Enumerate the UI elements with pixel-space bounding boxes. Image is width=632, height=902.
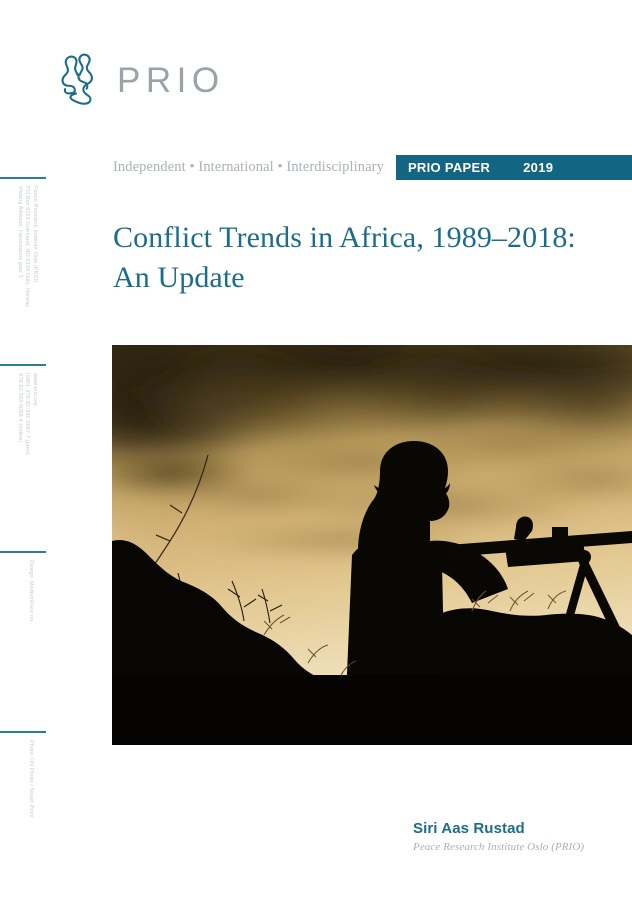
tagline: Independent • International • Interdisci…	[113, 155, 396, 180]
spine-divider-2	[0, 364, 46, 366]
badge-label: PRIO PAPER	[408, 160, 490, 175]
spine-photo-credit-block: Photo: UN Photo / Stuart Price	[26, 740, 34, 818]
spine-isbn-print: ISBN: 978-82-343-0067-7 (print)	[23, 373, 31, 455]
spine-divider-1	[0, 177, 46, 179]
page-title: Conflict Trends in Africa, 1989–2018: An…	[113, 218, 628, 298]
publisher-logo: PRIO	[51, 48, 311, 120]
title-line-1: Conflict Trends in Africa, 1989–2018:	[113, 221, 576, 254]
left-spine-colophon: Peace Research Institute Oslo (PRIO) PO …	[0, 0, 58, 902]
spine-address-line-3: Visiting Address: Hausmanns gate 3	[15, 186, 23, 307]
spine-website: www.prio.org	[30, 373, 38, 455]
spine-design-credit-block: Design: MediumRare.no	[26, 560, 34, 621]
spine-isbn-online: 978-82-343-0068-4 (online)	[15, 373, 23, 455]
cover-photo	[112, 345, 632, 745]
spine-design-credit: Design: MediumRare.no	[26, 560, 34, 621]
author-block: Siri Aas Rustad Peace Research Institute…	[413, 820, 632, 853]
spine-address-block: Peace Research Institute Oslo (PRIO) PO …	[15, 186, 38, 307]
spine-address-line-2: PO Box 9229 Grønland, NO-0134 Oslo, Norw…	[23, 186, 31, 307]
spine-address-line-1: Peace Research Institute Oslo (PRIO)	[30, 186, 38, 307]
spine-photo-credit: Photo: UN Photo / Stuart Price	[26, 740, 34, 818]
prio-paper-badge: PRIO PAPER 2019	[396, 155, 632, 180]
author-affiliation: Peace Research Institute Oslo (PRIO)	[413, 841, 632, 853]
author-name: Siri Aas Rustad	[413, 820, 632, 837]
spine-divider-4	[0, 731, 46, 733]
spine-divider-3	[0, 551, 46, 553]
spine-identifiers-block: www.prio.org ISBN: 978-82-343-0067-7 (pr…	[15, 373, 38, 455]
prio-knot-logo-icon	[51, 48, 113, 110]
prio-wordmark: PRIO	[117, 61, 225, 101]
header-strip: Independent • International • Interdisci…	[113, 155, 632, 180]
title-line-2: An Update	[113, 261, 245, 294]
badge-year: 2019	[523, 160, 553, 175]
